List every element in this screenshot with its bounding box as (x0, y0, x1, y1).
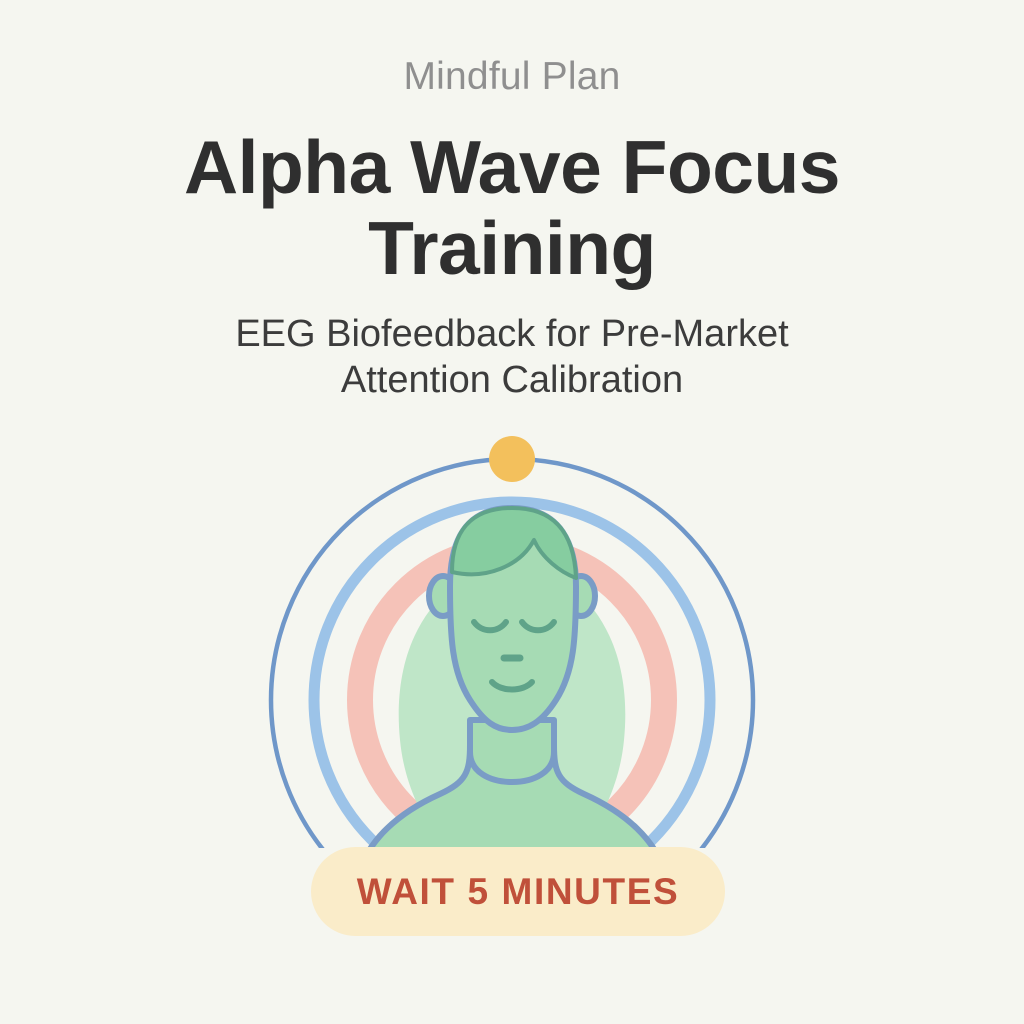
page-subtitle: EEG Biofeedback for Pre-Market Attention… (152, 289, 872, 404)
eyebrow-label: Mindful Plan (0, 0, 1024, 99)
header-text-block: Mindful Plan Alpha Wave Focus Training E… (0, 0, 1024, 404)
page-subtitle-line-2: Attention Calibration (341, 359, 683, 401)
status-badge: WAIT 5 MINUTES (311, 847, 725, 936)
page-title-line-1: Alpha Wave Focus (184, 125, 840, 209)
progress-dot-icon (489, 436, 535, 482)
page-title: Alpha Wave Focus Training (162, 99, 862, 289)
page-subtitle-line-1: EEG Biofeedback for Pre-Market (235, 313, 788, 355)
page-title-line-2: Training (368, 206, 656, 290)
status-badge-label: WAIT 5 MINUTES (357, 871, 680, 913)
poster-root: Mindful Plan Alpha Wave Focus Training E… (0, 0, 1024, 1024)
